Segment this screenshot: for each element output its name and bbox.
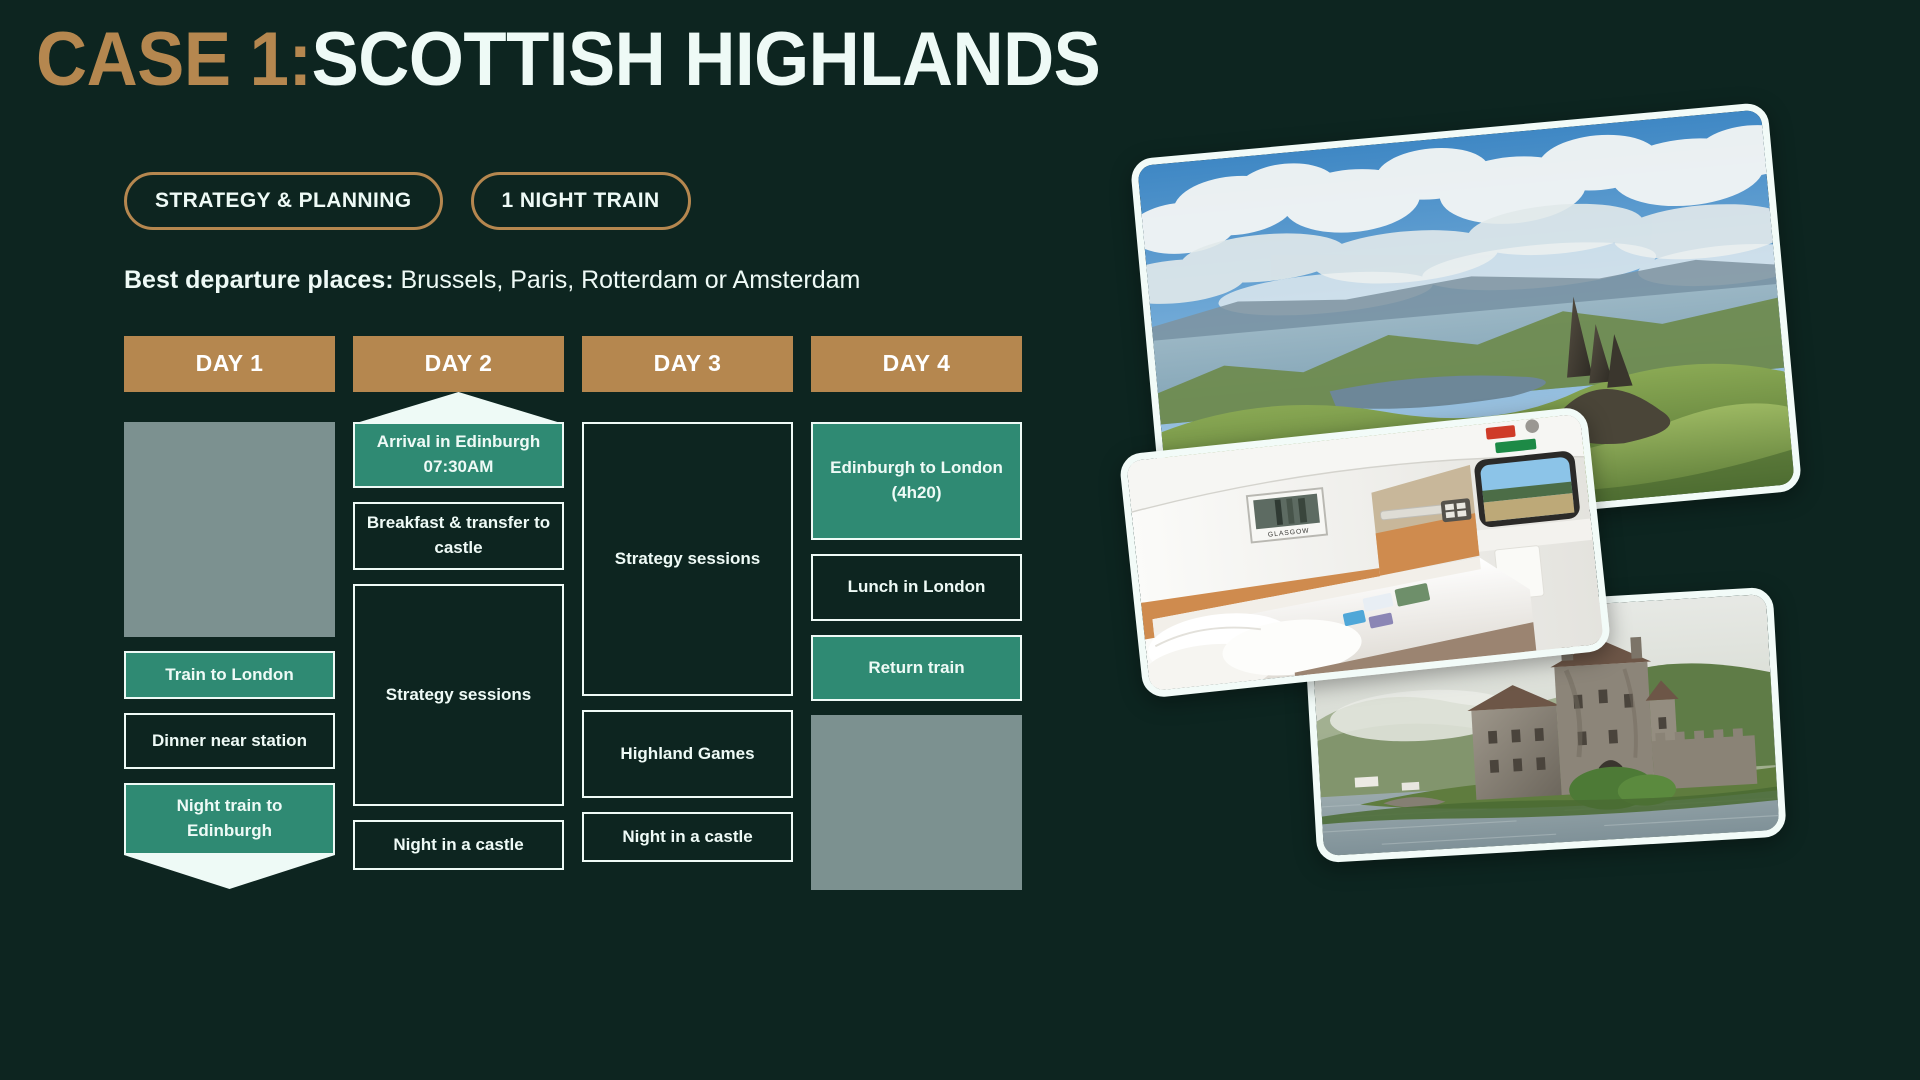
itinerary-grid: DAY 1Train to LondonDinner near stationN… — [124, 336, 1022, 890]
itinerary-image-placeholder — [811, 715, 1022, 890]
day-column-2: DAY 2Arrival in Edinburgh 07:30AMBreakfa… — [353, 336, 564, 870]
day-column-body-3: Strategy sessionsHighland GamesNight in … — [582, 422, 793, 862]
itinerary-slot: Edinburgh to London (4h20) — [811, 422, 1022, 540]
itinerary-card[interactable]: Night in a castle — [582, 812, 793, 862]
tag-pill-night-train[interactable]: 1 NIGHT TRAIN — [471, 172, 691, 230]
itinerary-card[interactable]: Train to London — [124, 651, 335, 699]
itinerary-slot: Lunch in London — [811, 554, 1022, 621]
itinerary-card[interactable]: Night in a castle — [353, 820, 564, 870]
tag-pill-strategy-planning[interactable]: STRATEGY & PLANNING — [124, 172, 443, 230]
itinerary-card[interactable]: Return train — [811, 635, 1022, 701]
day-column-body-4: Edinburgh to London (4h20)Lunch in Londo… — [811, 422, 1022, 890]
departure-places-label: Best departure places: — [124, 266, 394, 294]
itinerary-card[interactable]: Breakfast & transfer to castle — [353, 502, 564, 570]
day-column-1: DAY 1Train to LondonDinner near stationN… — [124, 336, 335, 855]
day-column-body-1: Train to LondonDinner near stationNight … — [124, 422, 335, 855]
day-header-4: DAY 4 — [811, 336, 1022, 392]
day-column-3: DAY 3Strategy sessionsHighland GamesNigh… — [582, 336, 793, 862]
day-column-body-2: Arrival in Edinburgh 07:30AMBreakfast & … — [353, 422, 564, 870]
day-header-2: DAY 2 — [353, 336, 564, 392]
day-header-1: DAY 1 — [124, 336, 335, 392]
arrow-up-icon — [353, 392, 564, 424]
page-title-main: SCOTTISH HIGHLANDS — [312, 17, 1101, 102]
itinerary-slot: Breakfast & transfer to castle — [353, 502, 564, 570]
itinerary-card[interactable]: Night train to Edinburgh — [124, 783, 335, 855]
itinerary-slot — [124, 422, 335, 637]
itinerary-slot: Night in a castle — [582, 812, 793, 862]
day-header-3: DAY 3 — [582, 336, 793, 392]
itinerary-slot: Train to London — [124, 651, 335, 699]
itinerary-slot: Night train to Edinburgh — [124, 783, 335, 855]
photo-night-train-sleeper-cabin: GLASGOW — [1118, 406, 1611, 699]
itinerary-card[interactable]: Arrival in Edinburgh 07:30AM — [353, 422, 564, 488]
itinerary-slot: Dinner near station — [124, 713, 335, 769]
itinerary-slot: Strategy sessions — [582, 422, 793, 696]
itinerary-card[interactable]: Lunch in London — [811, 554, 1022, 621]
itinerary-card[interactable]: Edinburgh to London (4h20) — [811, 422, 1022, 540]
itinerary-card[interactable]: Highland Games — [582, 710, 793, 798]
page-title: CASE 1:SCOTTISH HIGHLANDS — [36, 16, 1100, 103]
itinerary-image-placeholder — [124, 422, 335, 637]
itinerary-slot: Arrival in Edinburgh 07:30AM — [353, 422, 564, 488]
itinerary-card[interactable]: Strategy sessions — [582, 422, 793, 696]
departure-places-line: Best departure places: Brussels, Paris, … — [124, 265, 860, 295]
arrow-down-icon — [124, 855, 335, 889]
photo-collage: GLASGOW — [1130, 100, 1920, 980]
itinerary-slot: Night in a castle — [353, 820, 564, 870]
tag-pill-row: STRATEGY & PLANNING 1 NIGHT TRAIN — [124, 172, 691, 230]
itinerary-card[interactable]: Dinner near station — [124, 713, 335, 769]
itinerary-slot — [811, 715, 1022, 890]
itinerary-slot: Return train — [811, 635, 1022, 701]
itinerary-card[interactable]: Strategy sessions — [353, 584, 564, 806]
page-title-case: CASE 1: — [36, 17, 312, 102]
itinerary-slot: Highland Games — [582, 710, 793, 798]
day-column-4: DAY 4Edinburgh to London (4h20)Lunch in … — [811, 336, 1022, 890]
departure-places-value: Brussels, Paris, Rotterdam or Amsterdam — [394, 266, 861, 294]
itinerary-slot: Strategy sessions — [353, 584, 564, 806]
